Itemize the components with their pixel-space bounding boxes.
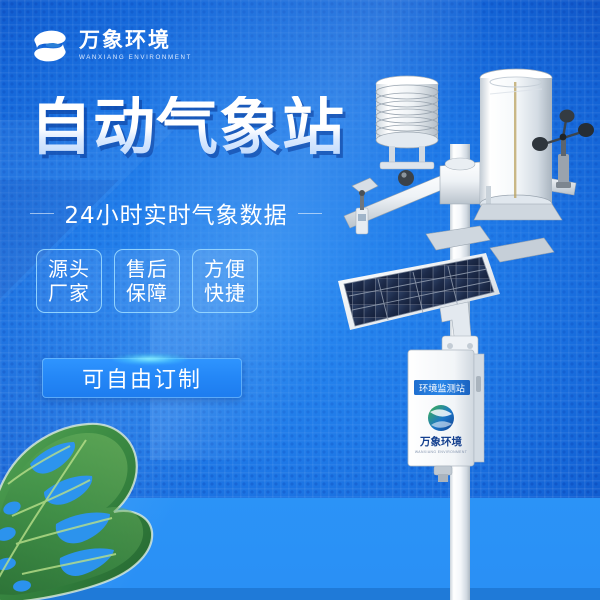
badge-line-2: 快捷 — [204, 282, 246, 304]
badge-line-2: 厂家 — [48, 282, 90, 304]
logo-en-name: WANXIANG ENVIRONMENT — [79, 55, 192, 61]
enclosure-logo-cn: 万象环境 — [419, 435, 462, 448]
customize-cta-label: 可自由订制 — [82, 362, 202, 394]
feature-badge-after-sales[interactable]: 售后 保障 — [114, 249, 180, 313]
logo-cn-name: 万象环境 — [79, 30, 192, 51]
page-subtitle: 24小时实时气象数据 — [64, 196, 287, 230]
poster-canvas: 环境监测站 万象环境 WANXIANG ENVIRONMENT — [0, 0, 600, 600]
rain-gauge-sensor — [474, 69, 562, 220]
solar-panel — [338, 253, 500, 356]
enclosure-latch — [476, 376, 481, 392]
subtitle-rule-right — [298, 213, 322, 214]
badge-line-2: 保障 — [126, 282, 168, 304]
feature-badge-convenient[interactable]: 方便 快捷 — [192, 249, 258, 313]
page-title: 自动气象站 — [30, 96, 345, 158]
badge-line-1: 售后 — [126, 258, 168, 280]
enclosure-logo-en: WANXIANG ENVIRONMENT — [415, 450, 467, 454]
badge-line-1: 方便 — [204, 258, 246, 280]
badge-line-1: 源头 — [48, 258, 90, 280]
customize-cta-button[interactable]: 可自由订制 — [42, 358, 242, 398]
feature-badge-source-factory[interactable]: 源头 厂家 — [36, 249, 102, 313]
feature-badge-group: 源头 厂家 售后 保障 方便 快捷 — [36, 249, 258, 313]
radiation-shield-sensor — [376, 76, 438, 186]
subtitle-rule-left — [30, 213, 54, 214]
weather-station-svg: 环境监测站 万象环境 WANXIANG ENVIRONMENT — [330, 58, 600, 600]
control-enclosure: 环境监测站 万象环境 WANXIANG ENVIRONMENT — [408, 350, 484, 482]
globe-swirl-logo-icon — [28, 24, 72, 68]
enclosure-band-label: 环境监测站 — [419, 383, 465, 395]
brand-logo[interactable]: 万象环境 WANXIANG ENVIRONMENT — [28, 24, 192, 68]
weather-station-illustration: 环境监测站 万象环境 WANXIANG ENVIRONMENT — [330, 58, 600, 600]
subtitle-row: 24小时实时气象数据 — [30, 196, 322, 230]
enclosure-logo-icon — [428, 405, 454, 431]
arm-plate-right — [490, 238, 554, 262]
